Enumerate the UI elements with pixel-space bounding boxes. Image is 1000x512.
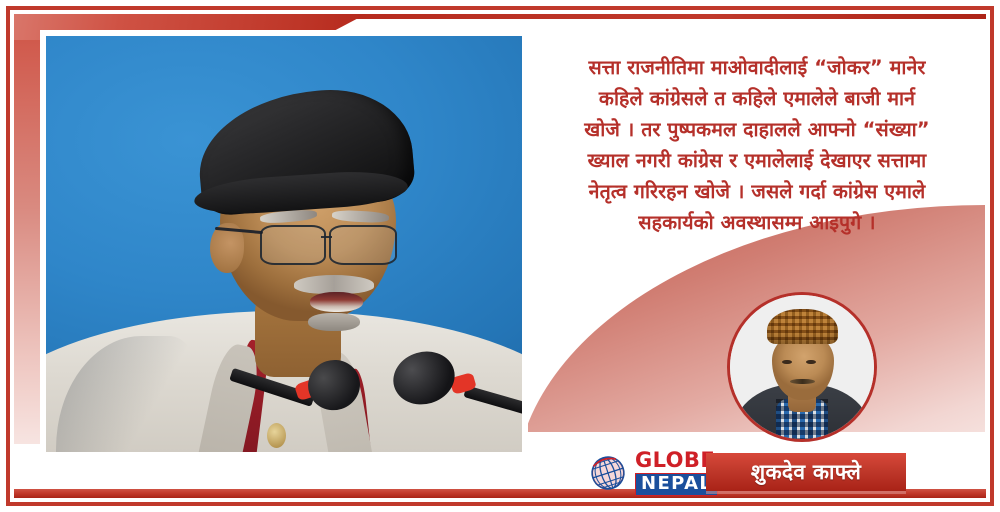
quote-line-5: नेतृत्व गरिरहन खोजे । जसले गर्दा कांग्रे… bbox=[548, 176, 966, 207]
left-red-gradient-bar bbox=[14, 14, 40, 444]
subject-mouth bbox=[310, 292, 362, 312]
quote-graphic-card: सत्ता राजनीतिमा माओवादीलाई “जोकर” मानेर … bbox=[0, 0, 1000, 512]
avatar-moustache bbox=[790, 379, 814, 385]
author-name: शुकदेव काफ्ले bbox=[751, 458, 861, 486]
quote-line-2: कहिले कांग्रेसले त कहिले एमालेले बाजी मा… bbox=[548, 83, 966, 114]
eyeglasses-right-lens bbox=[329, 225, 397, 265]
author-avatar bbox=[727, 292, 877, 442]
main-photo-frame bbox=[40, 30, 528, 458]
photo-subject bbox=[46, 36, 522, 452]
eyeglasses-left-lens bbox=[260, 225, 326, 265]
quote-text: सत्ता राजनीतिमा माओवादीलाई “जोकर” मानेर … bbox=[548, 52, 966, 238]
eyeglasses-bridge bbox=[321, 236, 331, 238]
avatar-dhaka-topi bbox=[767, 309, 838, 344]
quote-line-4: ख्याल नगरी कांग्रेस र एमालेलाई देखाएर सत… bbox=[548, 145, 966, 176]
quote-line-6: सहकार्यको अवस्थासम्म आइपुगे । bbox=[548, 207, 966, 238]
main-photo bbox=[46, 36, 522, 452]
author-name-badge: शुकदेव काफ्ले bbox=[706, 453, 906, 491]
top-red-rule bbox=[300, 14, 986, 19]
globe-nepal-logo[interactable]: GLOBE NEPAL bbox=[588, 450, 718, 496]
subject-chin-beard bbox=[308, 313, 360, 332]
globe-icon bbox=[588, 452, 628, 494]
quote-line-1: सत्ता राजनीतिमा माओवादीलाई “जोकर” मानेर bbox=[548, 52, 966, 83]
quote-line-3: खोजे । तर पुष्पकमल दाहालले आफ्नो “संख्या… bbox=[548, 114, 966, 145]
